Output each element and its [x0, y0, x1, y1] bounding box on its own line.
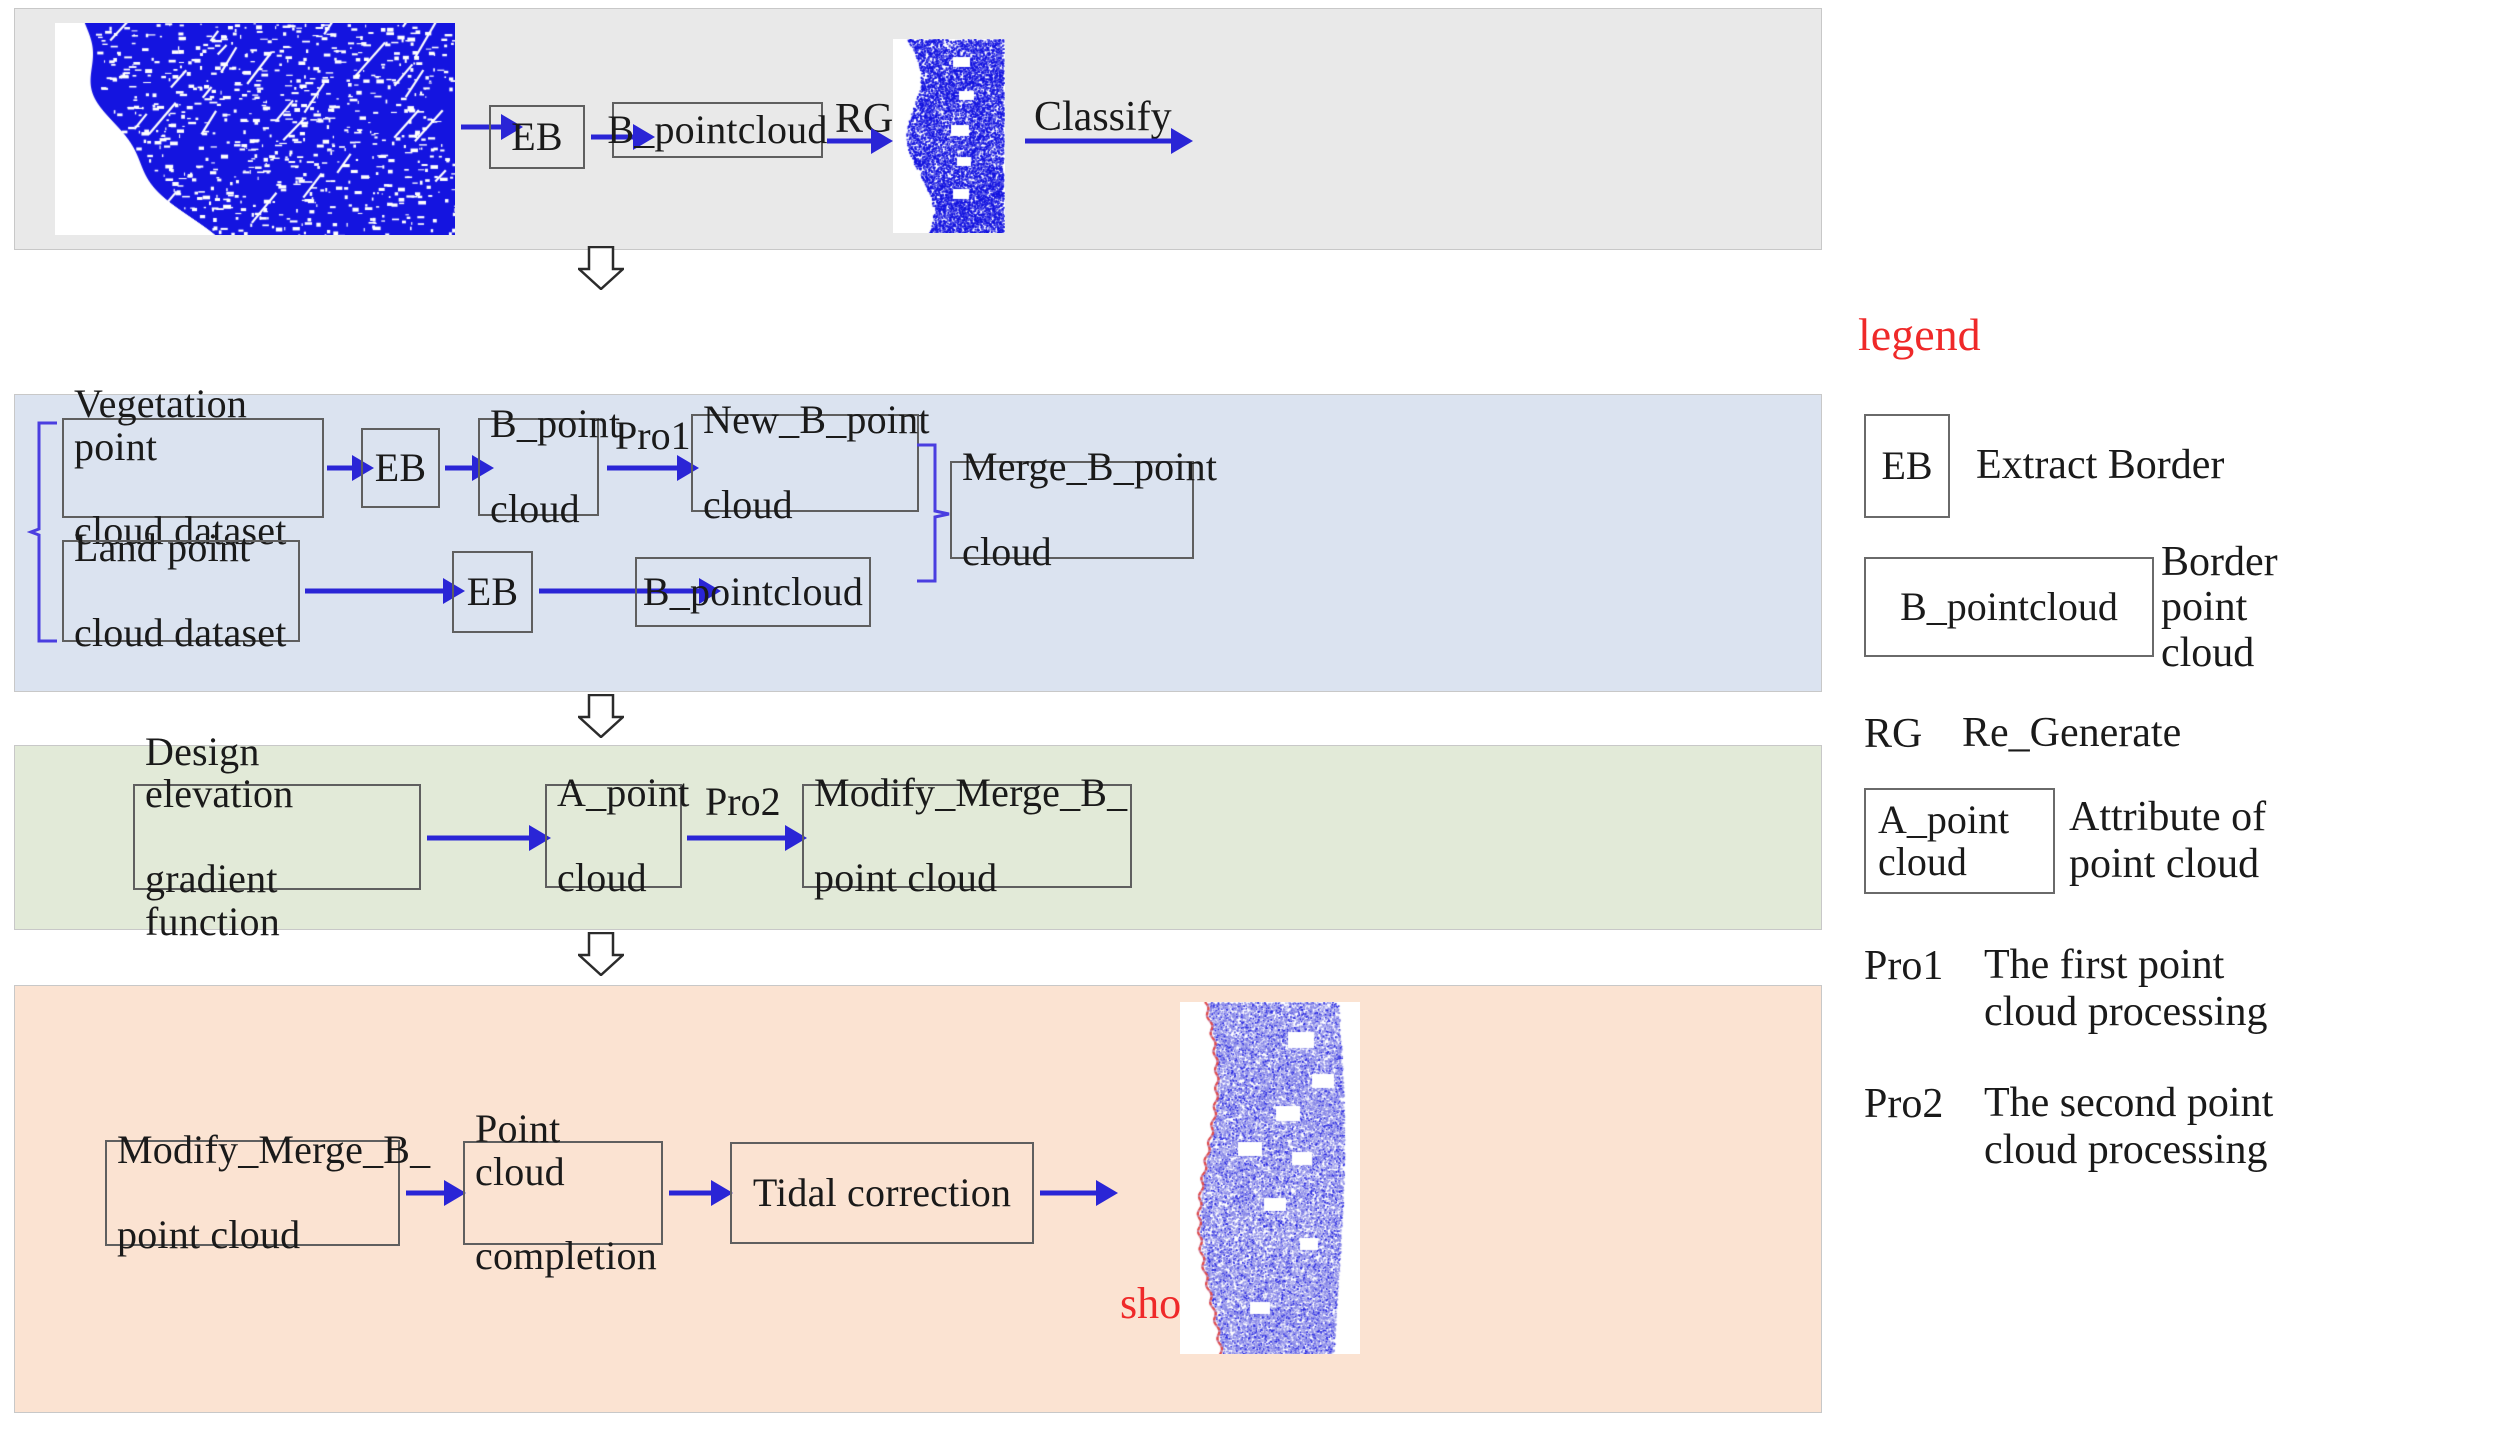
node-b-pointcloud-2: B_pointcloud: [635, 557, 871, 627]
legend-description-b-pointcloud: Border point cloud: [2161, 540, 2278, 676]
input-brace: [27, 421, 61, 643]
node-design-elevation-function: Design elevationgradient function: [133, 784, 421, 890]
node-land-dataset: Land pointcloud dataset: [62, 540, 300, 642]
node-eb2: EB: [361, 428, 440, 508]
node-b-pointcloud-1-label: B_pointcloud: [607, 109, 827, 151]
node-b-pointcloud-1: B_pointcloud: [612, 102, 823, 158]
merge-brace: [915, 443, 951, 583]
legend: legend EB Extract Border B_pointcloud Bo…: [1858, 420, 2488, 1400]
node-new-b-point-cloud-label: New_B_pointcloud: [703, 399, 930, 526]
node-modify-merge-b-point-cloud-label: Modify_Merge_B_point cloud: [814, 772, 1127, 899]
node-eb1-label: EB: [511, 116, 563, 158]
panel-border: Vegetation pointcloud dataset EB B_point…: [14, 394, 1822, 692]
legend-symbol-pro1: Pro1: [1864, 942, 1943, 990]
node-point-cloud-completion-label: Point cloudcompletion: [475, 1108, 657, 1278]
legend-symbol-a-point-cloud-label: A_pointcloud: [1878, 799, 2009, 883]
legend-symbol-b-pointcloud: B_pointcloud: [1864, 557, 2154, 657]
node-design-elevation-function-label: Design elevationgradient function: [145, 731, 409, 943]
edge-label-pro2: Pro2: [705, 778, 781, 825]
node-new-b-point-cloud: New_B_pointcloud: [691, 414, 919, 512]
shoreline-result-thumbnail: [1180, 1002, 1360, 1354]
flow-chevron-3-icon: [578, 932, 624, 976]
node-tidal-correction-label: Tidal correction: [753, 1172, 1011, 1214]
panel-final: Modify_Merge_B_point cloud Point cloudco…: [14, 985, 1822, 1413]
raw-point-cloud-thumbnail: [55, 23, 455, 235]
edge-label-classify: Classify: [1034, 93, 1172, 141]
flow-chevron-1-icon: [578, 246, 624, 290]
node-merge-b-point-cloud: Merge_B_pointcloud: [950, 461, 1194, 559]
legend-symbol-eb-label: EB: [1881, 445, 1932, 487]
node-eb3-label: EB: [467, 571, 519, 613]
diagram-canvas: EB B_pointcloud RG Classify: [0, 0, 2500, 1429]
legend-description-pro1: The first point cloud processing: [1984, 942, 2267, 1036]
node-eb2-label: EB: [375, 447, 427, 489]
legend-symbol-a-point-cloud: A_pointcloud: [1864, 788, 2055, 894]
node-a-point-cloud-label: A_pointcloud: [557, 772, 690, 899]
node-b-pointcloud-2-label: B_pointcloud: [643, 571, 863, 613]
node-a-point-cloud: A_pointcloud: [545, 784, 682, 888]
legend-title: legend: [1858, 308, 1981, 361]
legend-description-pro2: The second point cloud processing: [1984, 1080, 2273, 1174]
flow-chevron-2-icon: [578, 694, 624, 738]
legend-symbol-rg: RG: [1864, 710, 1922, 758]
node-b-point-cloud: B_pointcloud: [478, 418, 599, 516]
node-point-cloud-completion: Point cloudcompletion: [463, 1141, 663, 1245]
node-eb3: EB: [452, 551, 533, 633]
node-vegetation-dataset: Vegetation pointcloud dataset: [62, 418, 324, 518]
node-modify-merge-b-point-cloud-2-label: Modify_Merge_B_point cloud: [117, 1129, 430, 1256]
panel-ingest: EB B_pointcloud RG Classify: [14, 8, 1822, 250]
node-eb1: EB: [489, 105, 585, 169]
border-point-cloud-thumbnail: [893, 39, 1005, 233]
node-modify-merge-b-point-cloud-2: Modify_Merge_B_point cloud: [105, 1140, 400, 1246]
node-modify-merge-b-point-cloud: Modify_Merge_B_point cloud: [802, 784, 1132, 888]
panel-elevation: Design elevationgradient function A_poin…: [14, 745, 1822, 930]
legend-description-eb: Extract Border: [1976, 442, 2224, 489]
node-land-dataset-label: Land pointcloud dataset: [74, 527, 287, 654]
node-tidal-correction: Tidal correction: [730, 1142, 1034, 1244]
legend-symbol-pro2: Pro2: [1864, 1080, 1943, 1128]
legend-symbol-b-pointcloud-label: B_pointcloud: [1900, 586, 2118, 628]
legend-description-a-point-cloud: Attribute of point cloud: [2069, 794, 2266, 888]
node-merge-b-point-cloud-label: Merge_B_pointcloud: [962, 446, 1217, 573]
edge-label-pro1: Pro1: [615, 412, 691, 459]
node-b-point-cloud-label: B_pointcloud: [490, 403, 620, 530]
legend-description-rg: Re_Generate: [1962, 710, 2181, 757]
legend-symbol-eb: EB: [1864, 414, 1950, 518]
